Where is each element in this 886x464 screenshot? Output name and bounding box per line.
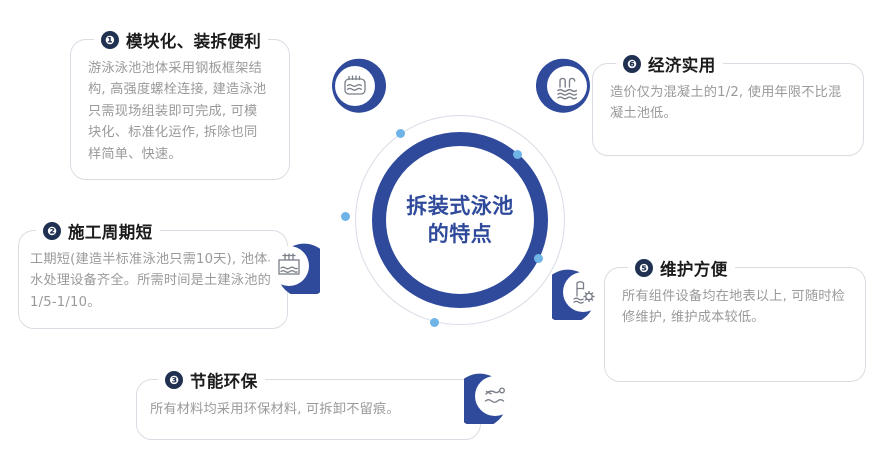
card-body-6: 造价仅为混凝土的1/2, 使用年限不比混凝土池低。	[610, 82, 850, 125]
card-title-6: 经济实用	[648, 52, 716, 76]
number-badge-3: ❸	[165, 371, 183, 389]
swimmer-icon	[464, 362, 526, 424]
hub-label: 拆装式泳池 的特点	[372, 132, 548, 308]
card-header-5: ❺ 维护方便	[628, 256, 735, 280]
card-body-1: 游泳泳池池体采用钢板框架结构, 高强度螺栓连接, 建造泳池只需现场组装即可完成,…	[88, 58, 270, 165]
hub-title-line2: 的特点	[428, 220, 493, 248]
number-badge-5: ❺	[635, 259, 653, 277]
card-body-5: 所有组件设备均在地表以上, 可随时检修维护, 维护成本较低。	[622, 286, 848, 329]
card-body-3: 所有材料均采用环保材料, 可拆卸不留痕。	[150, 399, 472, 420]
card-body-2: 工期短(建造半标准泳池只需10天), 池体、水处理设备齐全。所需时间是土建泳池的…	[30, 249, 290, 313]
feature-card-6: ❻ 经济实用 造价仅为混凝土的1/2, 使用年限不比混凝土池低。	[592, 52, 864, 156]
hub-dot-2	[513, 150, 522, 159]
number-badge-2: ❷	[43, 222, 61, 240]
card-title-3: 节能环保	[190, 368, 258, 392]
pool-ladder-icon	[258, 232, 320, 294]
number-badge-6: ❻	[623, 55, 641, 73]
hub-title-line1: 拆装式泳池	[406, 192, 514, 220]
pin-marker-3[interactable]	[464, 362, 526, 424]
card-title-1: 模块化、装拆便利	[126, 28, 261, 52]
hub-dot-4	[534, 254, 543, 263]
pin-marker-5[interactable]	[552, 258, 614, 320]
pin-marker-6[interactable]	[536, 58, 598, 120]
card-title-2: 施工周期短	[68, 219, 153, 243]
pin-marker-2[interactable]	[258, 232, 320, 294]
card-header-6: ❻ 经济实用	[616, 52, 723, 76]
feature-card-5: ❺ 维护方便 所有组件设备均在地表以上, 可随时检修维护, 维护成本较低。	[604, 256, 866, 382]
card-title-5: 维护方便	[660, 256, 728, 280]
number-badge-1: ❶	[101, 31, 119, 49]
card-header-3: ❸ 节能环保	[158, 368, 265, 392]
feature-card-3: ❸ 节能环保 所有材料均采用环保材料, 可拆卸不留痕。	[136, 368, 481, 440]
pool-waves-icon	[536, 58, 598, 120]
hub-dot-3	[341, 212, 350, 221]
feature-card-2: ❷ 施工周期短 工期短(建造半标准泳池只需10天), 池体、水处理设备齐全。所需…	[18, 219, 288, 329]
pool-maintenance-gear-icon	[552, 258, 614, 320]
pin-marker-1[interactable]	[324, 58, 386, 120]
hub-dot-5	[430, 318, 439, 327]
card-header-1: ❶ 模块化、装拆便利	[94, 28, 268, 52]
pool-basin-icon	[324, 58, 386, 120]
hub-dot-1	[396, 129, 405, 138]
infographic-canvas: ❶ 模块化、装拆便利 游泳泳池池体采用钢板框架结构, 高强度螺栓连接, 建造泳池…	[0, 0, 886, 464]
feature-card-1: ❶ 模块化、装拆便利 游泳泳池池体采用钢板框架结构, 高强度螺栓连接, 建造泳池…	[70, 28, 290, 180]
card-header-2: ❷ 施工周期短	[36, 219, 160, 243]
